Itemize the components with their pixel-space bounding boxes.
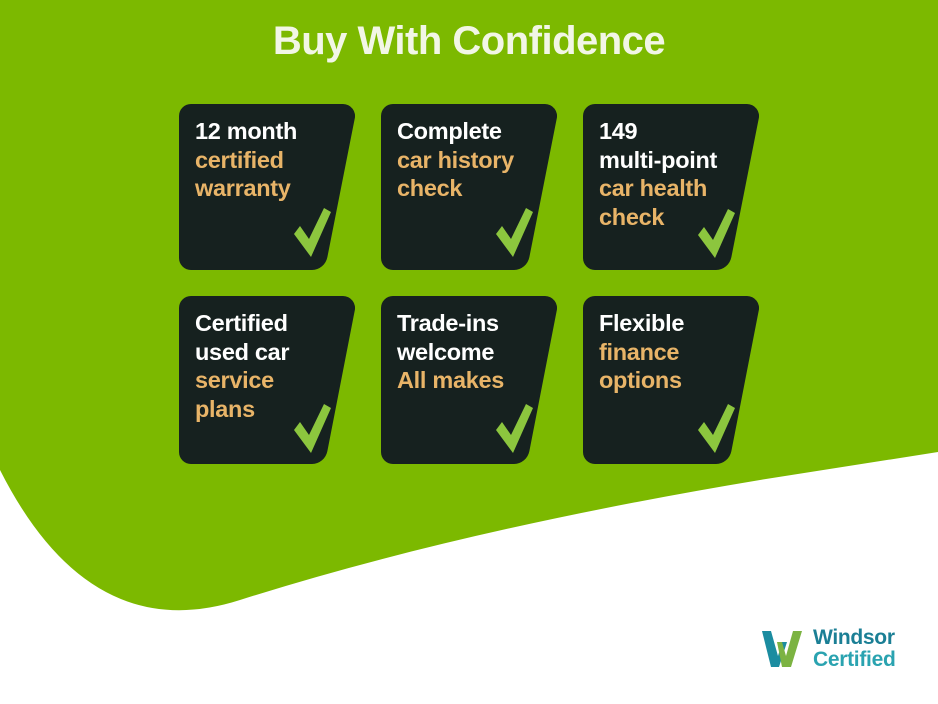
card-line: finance: [599, 338, 737, 367]
card-line: service: [195, 366, 333, 395]
card-line: 149: [599, 117, 737, 146]
card-text-block: Trade-ins welcome All makes: [397, 309, 535, 395]
brand-logo-wordmark: Windsor Certified: [813, 627, 895, 672]
feature-card-grid: 12 month certified warranty: [179, 104, 759, 490]
card-line: Certified: [195, 309, 333, 338]
card-text-block: Complete car history check: [397, 117, 535, 203]
page-title: Buy With Confidence: [0, 19, 938, 64]
check-icon: [696, 404, 736, 454]
feature-card-certified-warranty[interactable]: 12 month certified warranty: [179, 104, 355, 270]
check-icon: [494, 208, 534, 258]
poster-canvas: Buy With Confidence 12 month certified w…: [0, 0, 938, 704]
card-line: options: [599, 366, 737, 395]
card-line: certified: [195, 146, 333, 175]
brand-name-line1: Windsor: [813, 627, 895, 649]
brand-logo: Windsor Certified: [760, 627, 895, 672]
card-line: Complete: [397, 117, 535, 146]
card-line: car history: [397, 146, 535, 175]
card-line: welcome: [397, 338, 535, 367]
card-line: used car: [195, 338, 333, 367]
card-text-block: Flexible finance options: [599, 309, 737, 395]
feature-card-flexible-finance[interactable]: Flexible finance options: [583, 296, 759, 464]
windsor-w-icon: [760, 629, 804, 669]
card-line: warranty: [195, 174, 333, 203]
check-icon: [696, 209, 736, 259]
card-line: check: [397, 174, 535, 203]
card-line: 12 month: [195, 117, 333, 146]
brand-name-line2: Certified: [813, 649, 895, 671]
check-icon: [292, 208, 332, 258]
card-text-block: 12 month certified warranty: [195, 117, 333, 203]
card-line: Trade-ins: [397, 309, 535, 338]
feature-card-row-bottom: Certified used car service plans: [179, 296, 759, 464]
feature-card-service-plans[interactable]: Certified used car service plans: [179, 296, 355, 464]
check-icon: [292, 404, 332, 454]
feature-card-row-top: 12 month certified warranty: [179, 104, 759, 270]
card-line: multi-point: [599, 146, 737, 175]
card-line: car health: [599, 174, 737, 203]
card-line: All makes: [397, 366, 535, 395]
feature-card-car-history-check[interactable]: Complete car history check: [381, 104, 557, 270]
feature-card-multi-point-health-check[interactable]: 149 multi-point car health check: [583, 104, 759, 270]
card-line: Flexible: [599, 309, 737, 338]
check-icon: [494, 404, 534, 454]
feature-card-trade-ins[interactable]: Trade-ins welcome All makes: [381, 296, 557, 464]
